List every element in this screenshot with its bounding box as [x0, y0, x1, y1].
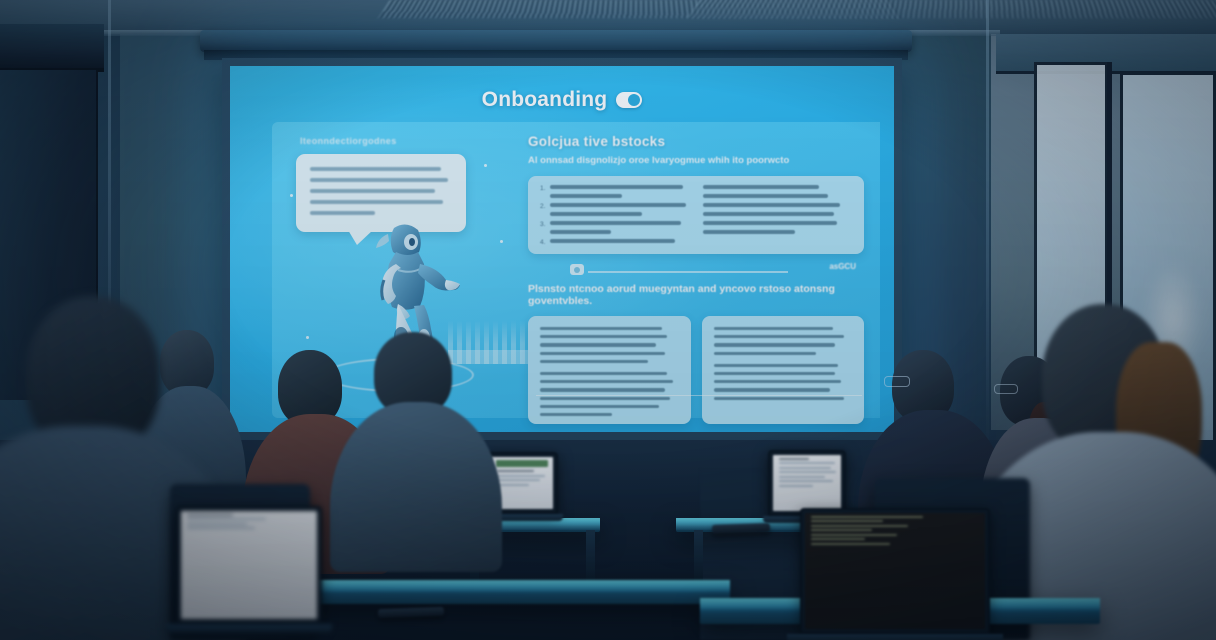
sparkle-icon: [290, 194, 293, 197]
overview-right-text: [703, 185, 852, 245]
laptop-lid: [768, 450, 846, 516]
attendee-center: [346, 332, 482, 562]
slide-right-panel: Golcjua tive bstocks Al onnsad disgnoliz…: [524, 122, 880, 418]
list-item: 4.: [540, 239, 689, 248]
left-wall-cabinet-head: [0, 24, 104, 72]
list-number: 4.: [540, 239, 545, 247]
desk-foreground: [300, 580, 730, 604]
slide-title-row: Onboanding: [230, 88, 894, 112]
divider-rule: [588, 271, 788, 273]
sparkle-icon: [500, 240, 503, 243]
list-item: 1.: [540, 185, 689, 203]
left-panel-heading: Iteonndectiorgodnes: [300, 136, 397, 146]
section-divider-row: asGCU: [528, 263, 864, 279]
paragraph: [714, 327, 853, 355]
toggle-badge-icon: [616, 92, 642, 108]
glasses-icon: [884, 376, 910, 387]
right-detail-card: [702, 316, 865, 424]
laptop-screen: [773, 455, 841, 511]
divider-label: asGCU: [829, 262, 856, 271]
left-detail-card: [528, 316, 691, 424]
sparkle-icon: [484, 164, 487, 167]
laptop-screen: [181, 511, 317, 619]
ceiling-vent-panel-right: [688, 0, 1216, 18]
list-number: 2.: [540, 203, 545, 211]
conference-room-scene: Onboanding Iteonndectiorgodnes: [0, 0, 1216, 640]
laptop-lid: [800, 508, 990, 634]
torso: [330, 402, 502, 572]
attendee-front-right: [1000, 304, 1216, 640]
projector-screen-roller: [200, 30, 912, 52]
section-title: Golcjua tive bstocks: [528, 134, 864, 149]
laptop-screen: [805, 513, 985, 629]
laptop-front-right: [800, 508, 990, 634]
detail-cards: [528, 316, 864, 424]
page-title: Onboanding: [482, 88, 608, 112]
list-item: 2.: [540, 203, 689, 221]
numbered-list: 1. 2. 3. 4.: [540, 185, 689, 245]
list-item: 3.: [540, 221, 689, 239]
paragraph: [540, 327, 679, 363]
laptop-center-right: [768, 450, 846, 516]
footer-divider: [536, 395, 862, 397]
section-subtitle: Al onnsad disgnolizjo oroe lvaryogmue wh…: [528, 155, 864, 166]
list-number: 1.: [540, 185, 545, 193]
laptop-front-left: [176, 506, 322, 624]
card-badge-icon: [570, 264, 584, 275]
sparkle-icon: [306, 336, 309, 339]
section-title-2: Plsnsto ntcnoo aorud muegyntan and yncov…: [528, 283, 864, 307]
overview-card: 1. 2. 3. 4.: [528, 176, 864, 254]
list-number: 3.: [540, 221, 545, 229]
laptop-lid: [176, 506, 322, 624]
